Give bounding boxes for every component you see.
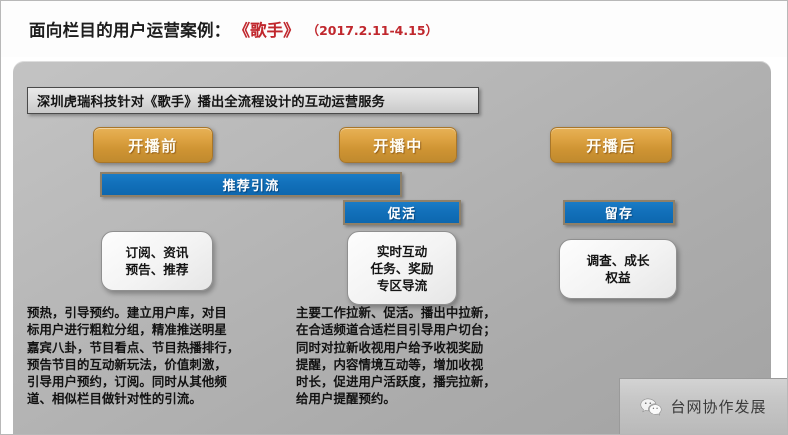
detail-box-during-broadcast-line-1: 实时互动 bbox=[377, 243, 427, 260]
description-during-broadcast-line-3: 同时对拉新收视用户给予收视奖励 bbox=[296, 339, 558, 356]
strategy-bar-recommendation-traffic[interactable]: 推荐引流 bbox=[100, 172, 402, 197]
strategy-bar-activation[interactable]: 促活 bbox=[343, 200, 461, 225]
description-pre-broadcast-line-3: 嘉宾八卦，节目看点、节目热播排行， bbox=[27, 339, 285, 356]
phase-button-during-broadcast-label: 开播中 bbox=[373, 135, 423, 156]
detail-box-post-broadcast-line-1: 调查、成长 bbox=[587, 252, 650, 269]
description-pre-broadcast-line-4: 预告节目的互动新玩法，价值刺激， bbox=[27, 356, 285, 373]
description-during-broadcast-line-6: 给用户提醒预约。 bbox=[296, 390, 558, 407]
phase-button-post-broadcast[interactable]: 开播后 bbox=[550, 127, 672, 163]
description-during-broadcast-line-5: 时长，促进用户活跃度，播完拉新， bbox=[296, 373, 558, 390]
description-during-broadcast-line-1: 主要工作拉新、促活。播出中拉新， bbox=[296, 304, 558, 321]
detail-box-during-broadcast: 实时互动 任务、奖励 专区导流 bbox=[347, 231, 457, 305]
subtitle-plaque: 深圳虎瑞科技针对《歌手》播出全流程设计的互动运营服务 bbox=[27, 87, 479, 114]
phase-button-pre-broadcast[interactable]: 开播前 bbox=[93, 127, 213, 163]
description-pre-broadcast-line-1: 预热，引导预约。建立用户库，对目 bbox=[27, 304, 285, 321]
description-pre-broadcast: 预热，引导预约。建立用户库，对目 标用户进行粗粒分组，精准推送明星 嘉宾八卦，节… bbox=[27, 304, 285, 408]
detail-box-pre-broadcast-line-1: 订阅、资讯 bbox=[126, 244, 189, 261]
detail-box-pre-broadcast-line-2: 预告、推荐 bbox=[126, 261, 189, 278]
description-pre-broadcast-line-5: 引导用户预约，订阅。同时从其他频 bbox=[27, 373, 285, 390]
detail-box-during-broadcast-line-3: 专区导流 bbox=[377, 277, 427, 294]
strategy-bar-retention-label: 留存 bbox=[605, 203, 633, 222]
strategy-bar-activation-label: 促活 bbox=[388, 203, 416, 222]
page-title: 面向栏目的用户运营案例： bbox=[29, 17, 231, 41]
description-during-broadcast: 主要工作拉新、促活。播出中拉新， 在合适频道合适栏目引导用户切台； 同时对拉新收… bbox=[296, 304, 558, 408]
detail-box-pre-broadcast: 订阅、资讯 预告、推荐 bbox=[101, 231, 213, 291]
strategy-bar-retention[interactable]: 留存 bbox=[563, 200, 675, 225]
subtitle-text: 深圳虎瑞科技针对《歌手》播出全流程设计的互动运营服务 bbox=[37, 91, 385, 110]
watermark-text: 台网协作发展 bbox=[670, 396, 766, 417]
detail-box-post-broadcast: 调查、成长 权益 bbox=[559, 239, 677, 299]
strategy-bar-recommendation-traffic-label: 推荐引流 bbox=[223, 175, 280, 194]
phase-button-pre-broadcast-label: 开播前 bbox=[128, 135, 178, 156]
wechat-watermark: 台网协作发展 bbox=[619, 378, 787, 434]
page-title-highlight: 《歌手》 bbox=[234, 17, 300, 41]
description-pre-broadcast-line-2: 标用户进行粗粒分组，精准推送明星 bbox=[27, 321, 285, 338]
detail-box-during-broadcast-line-2: 任务、奖励 bbox=[371, 260, 434, 277]
detail-box-post-broadcast-line-2: 权益 bbox=[605, 269, 630, 286]
slide-title-bar: 面向栏目的用户运营案例： 《歌手》 （2017.2.11-4.15） bbox=[1, 1, 788, 57]
phase-button-post-broadcast-label: 开播后 bbox=[586, 135, 636, 156]
wechat-icon bbox=[640, 397, 662, 416]
description-pre-broadcast-line-6: 道、相似栏目做针对性的引流。 bbox=[27, 390, 285, 407]
slide-canvas: 面向栏目的用户运营案例： 《歌手》 （2017.2.11-4.15） 深圳虎瑞科… bbox=[0, 0, 788, 435]
phase-button-during-broadcast[interactable]: 开播中 bbox=[339, 127, 457, 163]
description-during-broadcast-line-2: 在合适频道合适栏目引导用户切台； bbox=[296, 321, 558, 338]
description-during-broadcast-line-4: 提醒，内容情境互动等，增加收视 bbox=[296, 356, 558, 373]
page-title-date-range: （2017.2.11-4.15） bbox=[307, 20, 438, 39]
